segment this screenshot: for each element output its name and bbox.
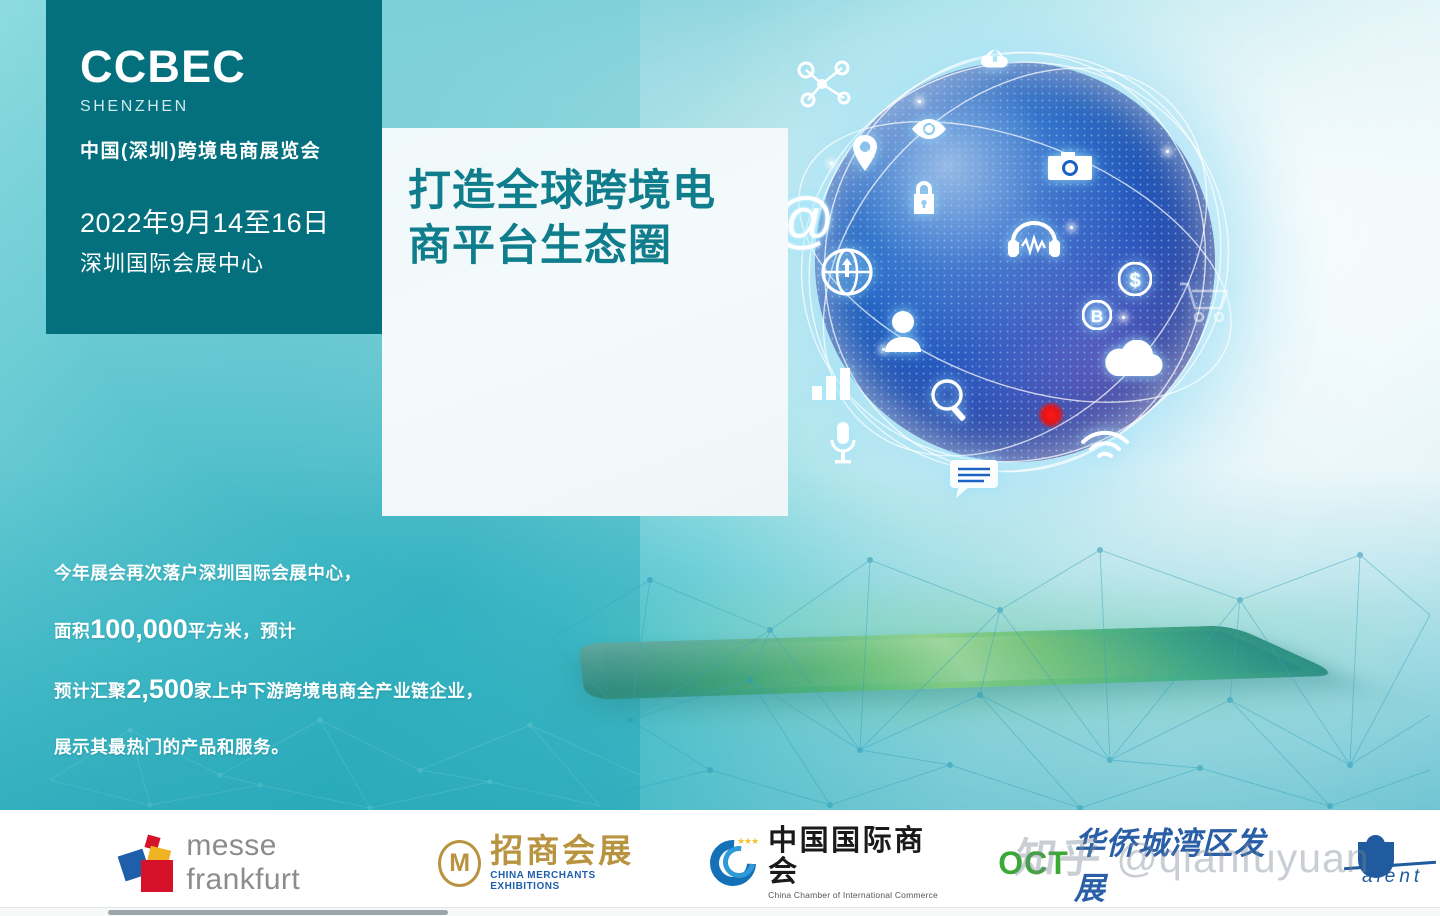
messe-frankfurt-wordmark: messe frankfurt xyxy=(186,829,380,897)
headline-line-1: 打造全球跨境电 xyxy=(408,164,788,219)
dollar-icon: $ xyxy=(1118,262,1152,296)
exhibitor-figure: 2,500 xyxy=(126,674,194,704)
lock-icon xyxy=(910,180,938,214)
globe-icon xyxy=(820,248,874,296)
network-nodes-icon xyxy=(792,58,854,108)
brand-city: SHENZHEN xyxy=(80,98,382,116)
microphone-icon xyxy=(830,422,856,464)
talent-wordmark: alent xyxy=(1362,866,1423,888)
area-figure: 100,000 xyxy=(90,614,188,644)
body-line-2-prefix: 面积 xyxy=(54,621,90,641)
headline-panel: 打造全球跨境电 商平台生态圈 xyxy=(382,128,788,516)
sponsor-logo-row: messe frankfurt M 招商会展 CHINA MERCHANTS E… xyxy=(0,818,1440,908)
logo-oct-bay-area[interactable]: OCT 华侨城湾区发展 xyxy=(998,818,1272,908)
body-line-4: 展示其最热门的产品和服务。 xyxy=(54,734,674,759)
sparkle xyxy=(1122,316,1125,319)
svg-text:$: $ xyxy=(1129,270,1140,292)
event-venue: 深圳国际会展中心 xyxy=(80,246,382,278)
bar-chart-icon xyxy=(812,368,852,400)
svg-text:B: B xyxy=(1091,307,1103,326)
body-line-3-prefix: 预计汇聚 xyxy=(54,681,126,701)
messe-frankfurt-squares-icon xyxy=(118,834,174,892)
body-line-2-suffix: 平方米，预计 xyxy=(188,621,297,641)
hero-banner: @ $ B xyxy=(0,0,1440,810)
body-copy: 今年展会再次落户深圳国际会展中心， 面积100,000平方米，预计 预计汇聚2,… xyxy=(54,560,674,759)
body-line-1: 今年展会再次落户深圳国际会展中心， xyxy=(54,560,674,585)
event-date: 2022年9月14至16日 xyxy=(80,201,382,240)
body-line-3: 预计汇聚2,500家上中下游跨境电商全产业链企业， xyxy=(54,674,674,705)
location-pin-icon xyxy=(852,135,878,171)
headline-line-2: 商平台生态圈 xyxy=(408,219,788,274)
shopping-cart-icon xyxy=(1178,280,1236,324)
poster-root: @ $ B xyxy=(0,0,1440,916)
china-merchants-mountain-icon: M xyxy=(438,840,481,887)
body-line-3-suffix: 家上中下游跨境电商全产业链企业， xyxy=(194,681,484,701)
cloud-upload-icon xyxy=(975,42,1015,76)
event-logo-block: CCBEC SHENZHEN 中国(深圳)跨境电商展览会 2022年9月14至1… xyxy=(46,0,382,334)
bitcoin-icon: B xyxy=(1082,300,1112,330)
ccoic-circle-icon: ★★★ xyxy=(710,838,759,888)
body-line-2: 面积100,000平方米，预计 xyxy=(54,614,674,645)
logo-talent[interactable]: alent xyxy=(1330,836,1440,890)
sponsor-footer: messe frankfurt M 招商会展 CHINA MERCHANTS E… xyxy=(0,810,1440,916)
user-icon xyxy=(885,310,921,352)
china-merchants-name-en: CHINA MERCHANTS EXHIBITIONS xyxy=(490,870,652,892)
sparkle xyxy=(1070,226,1073,229)
scrollbar-thumb[interactable] xyxy=(108,910,448,915)
oct-wordmark: OCT xyxy=(998,845,1069,882)
brand-title: CCBEC xyxy=(80,44,382,89)
search-icon xyxy=(930,378,972,422)
logo-china-chamber-commerce[interactable]: ★★★ 中国国际商会 China Chamber of Internationa… xyxy=(710,826,940,900)
sparkle xyxy=(1166,150,1169,153)
logo-messe-frankfurt[interactable]: messe frankfurt xyxy=(118,829,380,897)
ccoic-name-en: China Chamber of International Commerce xyxy=(768,890,940,900)
talent-bowl-icon: alent xyxy=(1330,836,1440,890)
eye-icon xyxy=(910,118,948,140)
network-mesh-right xyxy=(540,520,1440,810)
cloud-icon xyxy=(1102,340,1164,376)
globe-artwork: @ $ B xyxy=(770,30,1270,530)
oct-name-cn: 华侨城湾区发展 xyxy=(1074,818,1272,908)
wifi-icon xyxy=(1080,428,1130,462)
headphones-icon xyxy=(1008,220,1060,260)
globe-hotspot-dot xyxy=(1038,402,1064,428)
event-name-cn: 中国(深圳)跨境电商展览会 xyxy=(80,136,382,163)
logo-china-merchants-exhibitions[interactable]: M 招商会展 CHINA MERCHANTS EXHIBITIONS xyxy=(438,834,652,892)
china-merchants-name-cn: 招商会展 xyxy=(490,834,652,868)
sparkle xyxy=(830,162,833,165)
ccoic-stars-icon: ★★★ xyxy=(737,836,758,847)
chat-bubble-icon xyxy=(950,460,998,498)
camera-icon xyxy=(1048,152,1092,180)
ccoic-name-cn: 中国国际商会 xyxy=(768,826,940,887)
horizontal-scrollbar[interactable] xyxy=(0,907,1440,916)
sparkle xyxy=(918,100,921,103)
